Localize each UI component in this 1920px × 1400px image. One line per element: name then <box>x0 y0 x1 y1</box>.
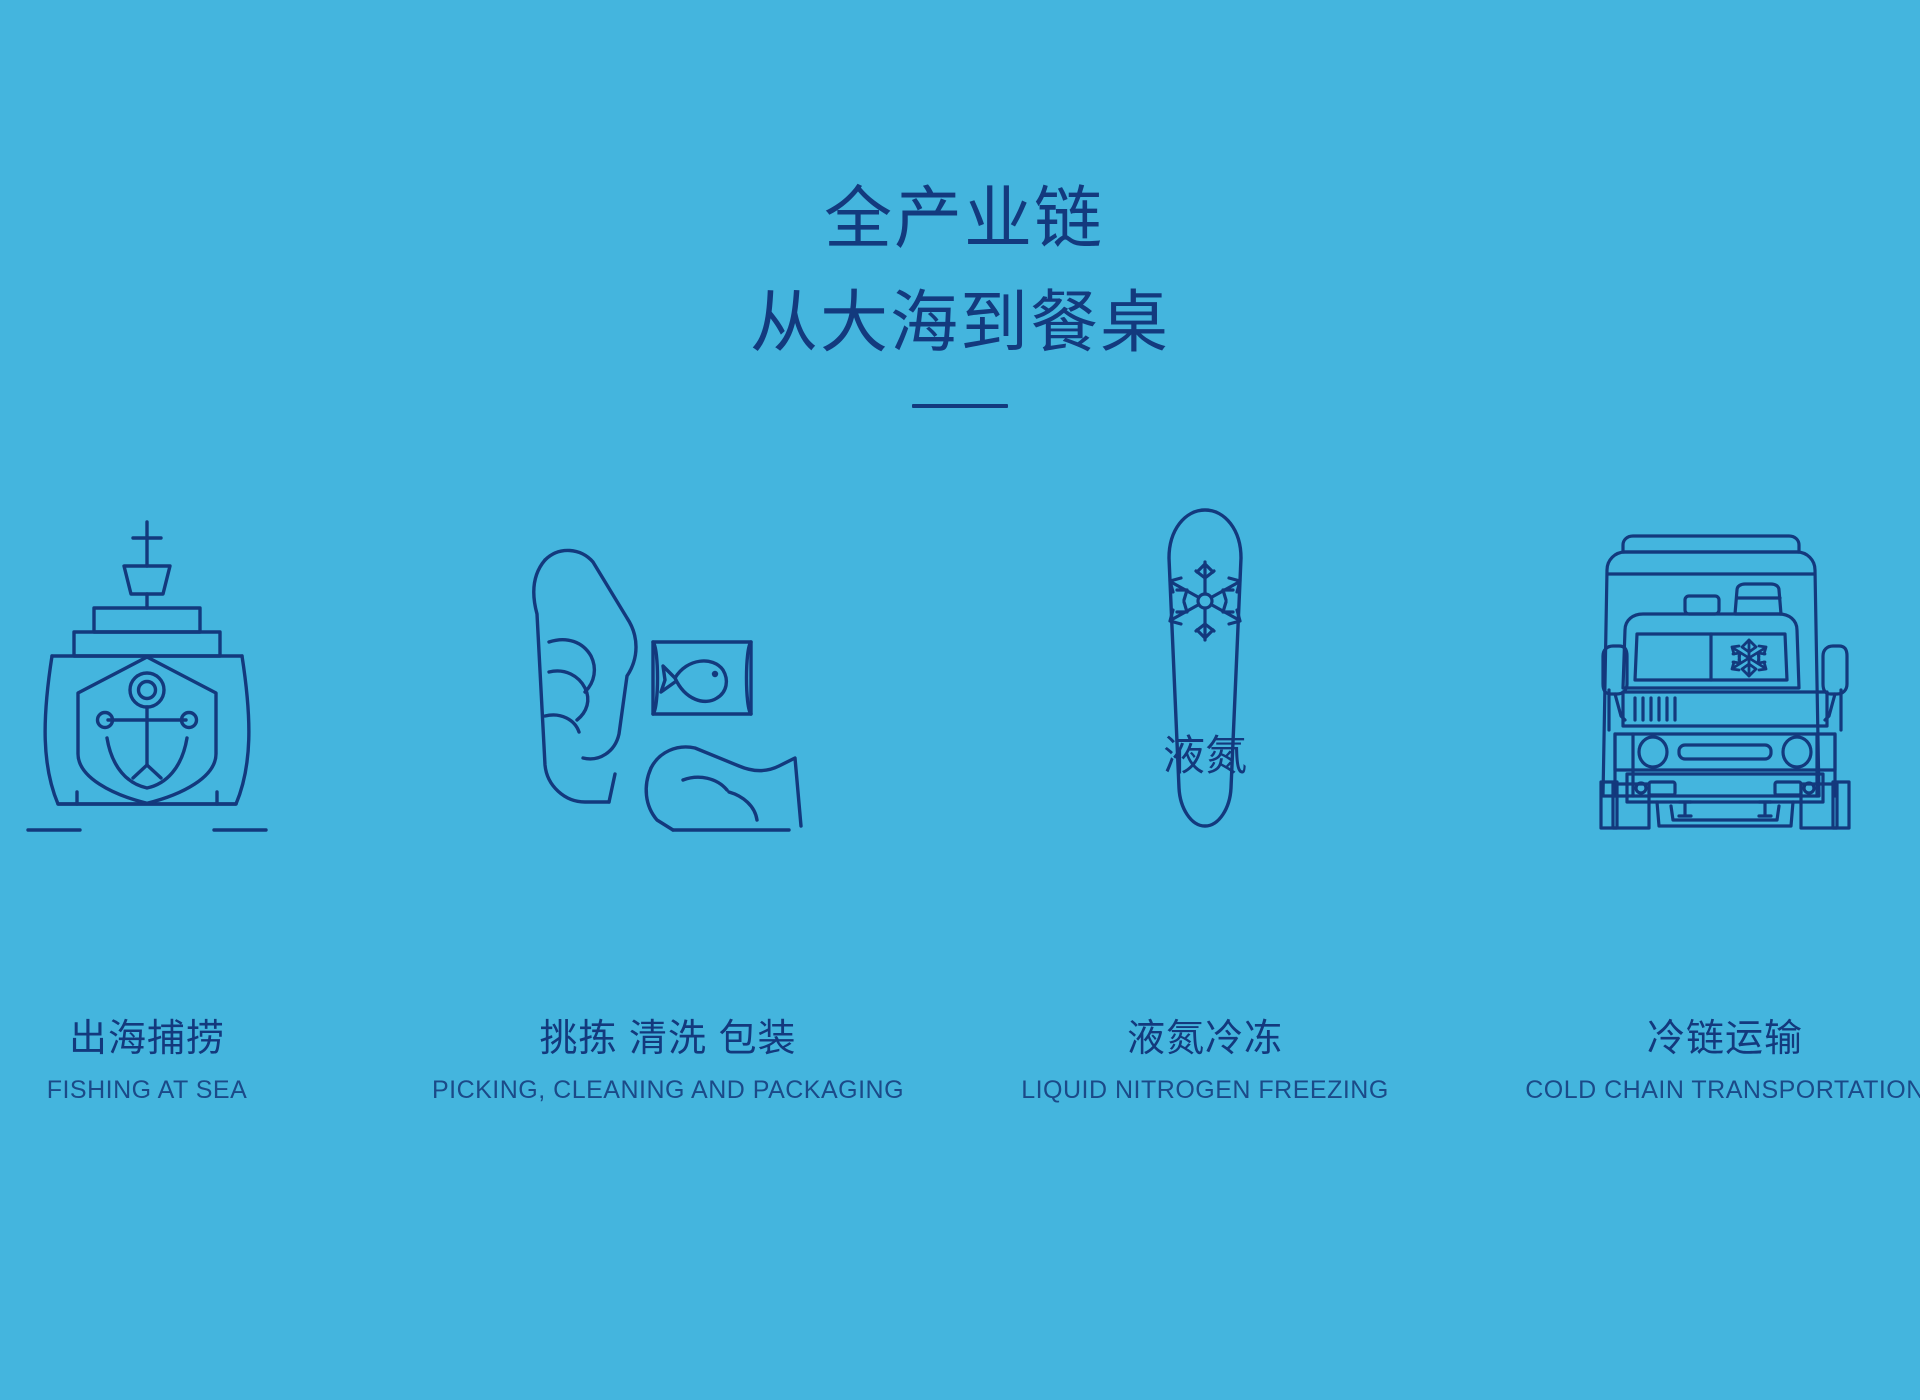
process-steps: 出海捕捞 FISHING AT SEA <box>0 500 1920 1140</box>
step-picking-cleaning-packaging[interactable]: 挑拣 清洗 包装 PICKING, CLEANING AND PACKAGING <box>428 500 908 1140</box>
step-fishing-at-sea[interactable]: 出海捕捞 FISHING AT SEA <box>0 500 387 1140</box>
icon-wrap-truck <box>1485 500 1920 830</box>
step-label-cn-freezing: 液氮冷冻 <box>965 1015 1445 1063</box>
snowflake-icon <box>1732 640 1766 676</box>
step-cold-chain-transportation[interactable]: 冷链运输 COLD CHAIN TRANSPORTATION <box>1485 500 1920 1140</box>
labels-packaging: 挑拣 清洗 包装 PICKING, CLEANING AND PACKAGING <box>428 1015 908 1110</box>
labels-transport: 冷链运输 COLD CHAIN TRANSPORTATION <box>1485 1015 1920 1110</box>
step-label-cn-transport: 冷链运输 <box>1485 1015 1920 1063</box>
icon-wrap-hands <box>428 500 908 830</box>
page-title-line-2: 从大海到餐桌 <box>0 272 1920 376</box>
icon-wrap-tank: 液氮 <box>965 500 1445 830</box>
page-canvas: 全产业链 从大海到餐桌 <box>0 0 1920 1400</box>
step-liquid-nitrogen-freezing[interactable]: 液氮 液氮冷冻 LIQUID NITROGEN FREEZING <box>965 500 1445 1140</box>
snowflake-icon <box>1170 562 1240 640</box>
labels-fishing: 出海捕捞 FISHING AT SEA <box>0 1015 387 1110</box>
step-label-cn-fishing: 出海捕捞 <box>0 1015 387 1063</box>
page-title-line-1: 全产业链 <box>8 168 1920 272</box>
icon-wrap-boat <box>0 500 387 830</box>
step-label-cn-packaging: 挑拣 清洗 包装 <box>428 1015 908 1063</box>
title-divider-wrap <box>0 404 1920 408</box>
step-label-en-fishing: FISHING AT SEA <box>0 1070 387 1110</box>
step-label-en-packaging: PICKING, CLEANING AND PACKAGING <box>428 1070 908 1110</box>
labels-freezing: 液氮冷冻 LIQUID NITROGEN FREEZING <box>965 1015 1445 1110</box>
grille-slats <box>1635 698 1675 720</box>
hands-holding-packaged-fish-icon <box>523 530 813 830</box>
step-label-en-freezing: LIQUID NITROGEN FREEZING <box>965 1070 1445 1110</box>
tank-label: 液氮 <box>1163 731 1247 780</box>
liquid-nitrogen-tank-icon: 液氮 <box>1151 506 1259 830</box>
step-label-en-transport: COLD CHAIN TRANSPORTATION <box>1485 1070 1920 1110</box>
page-header: 全产业链 从大海到餐桌 <box>0 168 1920 408</box>
fishing-boat-icon <box>20 520 274 830</box>
title-divider <box>912 404 1008 408</box>
refrigerated-truck-icon <box>1597 530 1853 830</box>
